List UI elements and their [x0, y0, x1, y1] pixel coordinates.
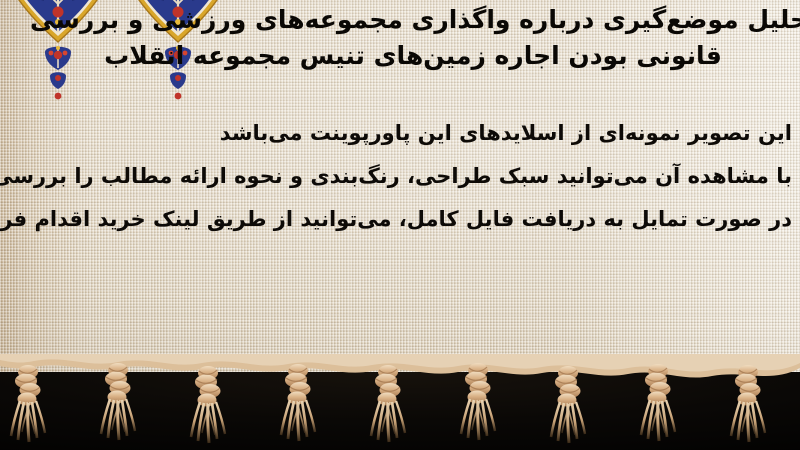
tassel: [11, 365, 45, 442]
tassel-row: [11, 363, 765, 443]
title-line-1: حلیل موضع‌گیری درباره واگذاری مجموعه‌های…: [10, 2, 800, 38]
title-line-2: قانونی بودن اجاره زمین‌های تنیس مجموعه ا…: [10, 38, 800, 74]
tassel: [551, 366, 585, 443]
tassel: [371, 365, 405, 442]
body-line-1: این تصویر نمونه‌ای از اسلایدهای این پاور…: [6, 112, 792, 155]
tassel: [731, 365, 765, 442]
tassel: [101, 363, 135, 440]
tassel: [281, 364, 315, 441]
slide-body: این تصویر نمونه‌ای از اسلایدهای این پاور…: [6, 112, 792, 241]
tassel: [641, 364, 675, 441]
body-line-3: در صورت تمایل به دریافت فایل کامل، می‌تو…: [6, 198, 792, 241]
slide-title: حلیل موضع‌گیری درباره واگذاری مجموعه‌های…: [10, 2, 790, 74]
tassel: [191, 366, 225, 443]
tassel: [461, 363, 495, 440]
slide-canvas: حلیل موضع‌گیری درباره واگذاری مجموعه‌های…: [0, 0, 800, 450]
carpet-fringe-zone: [0, 354, 800, 450]
body-line-2: با مشاهده آن می‌توانید سبک طراحی، رنگ‌بن…: [6, 155, 792, 198]
